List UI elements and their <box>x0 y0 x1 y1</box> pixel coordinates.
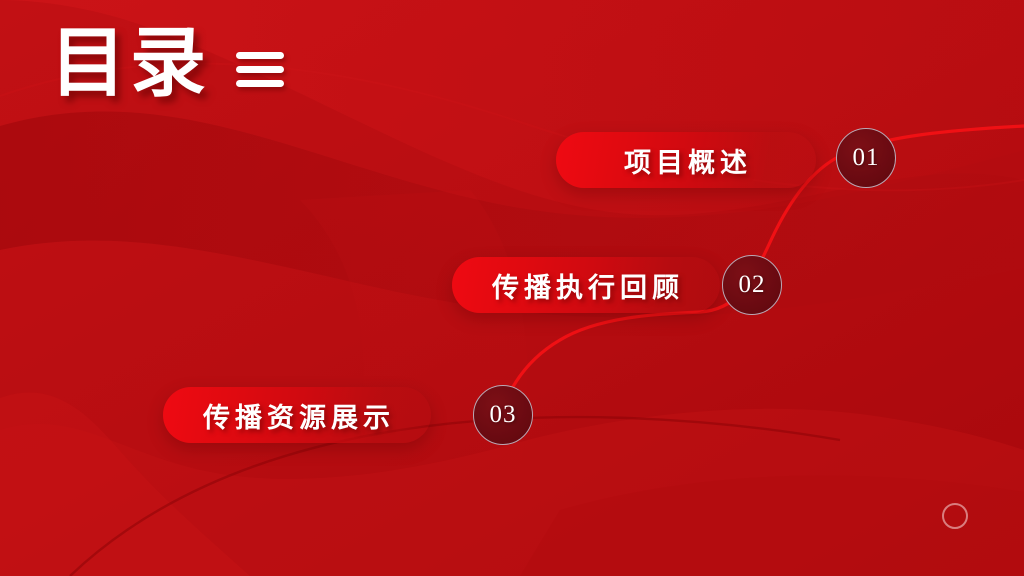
contents-label: 传播执行回顾 <box>488 266 684 305</box>
hamburger-bar-3 <box>236 80 284 87</box>
contents-pill-01[interactable]: 项目概述 <box>556 132 816 188</box>
contents-number: 02 <box>739 271 766 299</box>
page-title-block: 目录 <box>50 26 284 102</box>
slide-canvas: 目录 项目概述01传播执行回顾02传播资源展示03 <box>0 0 1024 576</box>
contents-badge-02[interactable]: 02 <box>722 255 782 315</box>
contents-badge-03[interactable]: 03 <box>473 385 533 445</box>
contents-badge-01[interactable]: 01 <box>836 128 896 188</box>
hamburger-bar-1 <box>236 52 284 59</box>
decorative-circle <box>942 503 968 529</box>
contents-number: 03 <box>490 401 517 429</box>
contents-label: 项目概述 <box>620 141 752 180</box>
hamburger-bar-2 <box>236 66 284 73</box>
hamburger-icon[interactable] <box>236 52 284 87</box>
page-title: 目录 <box>50 26 210 102</box>
contents-pill-02[interactable]: 传播执行回顾 <box>452 257 720 313</box>
contents-pill-03[interactable]: 传播资源展示 <box>163 387 431 443</box>
contents-number: 01 <box>853 144 880 172</box>
contents-label: 传播资源展示 <box>199 396 395 435</box>
